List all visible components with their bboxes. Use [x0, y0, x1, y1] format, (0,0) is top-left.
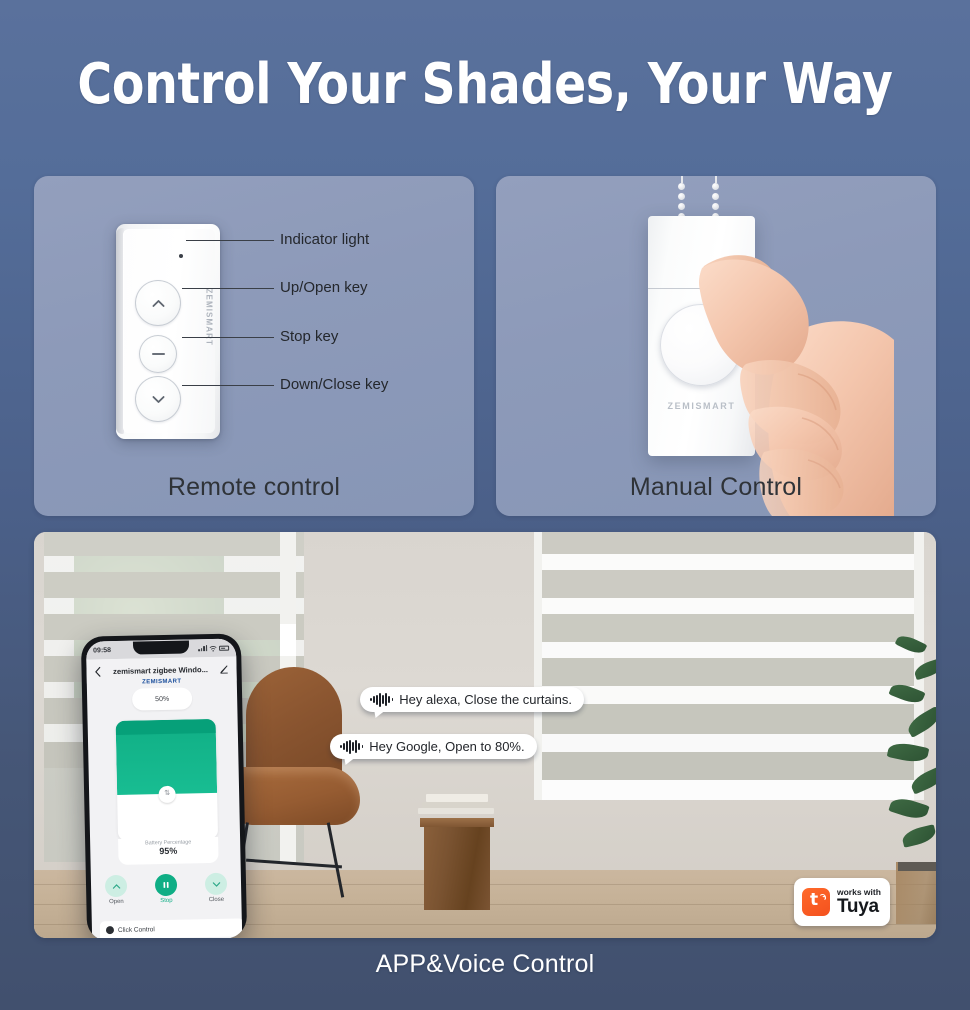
battery-icon	[219, 645, 229, 650]
callout-label-stop: Stop key	[280, 328, 338, 345]
chevron-down-icon	[150, 391, 167, 408]
card-manual-control: ZEMISMART M	[496, 176, 936, 516]
page-title: Control Your Shades, Your Way	[29, 52, 941, 117]
callout-line-stop	[182, 337, 274, 338]
callout-line-indicator	[186, 240, 274, 241]
app-open-label: Open	[105, 899, 127, 905]
app-close-label: Close	[205, 897, 227, 903]
pencil-icon[interactable]	[219, 664, 228, 673]
voice-bubble-google-text: Hey Google, Open to 80%.	[369, 739, 524, 754]
side-table	[424, 824, 490, 910]
card-remote-control: ZEMISMART Indicator light Up/Open key St…	[34, 176, 474, 516]
plant-pot	[896, 862, 936, 924]
photo-panel-caption: APP&Voice Control	[0, 950, 970, 979]
voice-waveform-icon	[340, 740, 363, 754]
app-close-button[interactable]: Close	[205, 873, 228, 903]
book	[422, 802, 490, 808]
battery-card: Battery Percentage 95%	[118, 837, 219, 865]
wifi-icon	[209, 644, 217, 651]
pause-icon	[161, 880, 171, 890]
right-window-blind	[534, 532, 924, 800]
minus-icon	[152, 353, 165, 355]
app-open-button[interactable]: Open	[105, 875, 128, 905]
click-control-label: Click Control	[118, 926, 155, 934]
works-with-tuya-badge: t works with Tuya	[794, 878, 890, 926]
voice-bubble-alexa: Hey alexa, Close the curtains.	[360, 687, 584, 712]
app-title: zemismart zigbee Windo...	[113, 665, 208, 676]
plant-soil	[898, 862, 936, 871]
chevron-up-icon	[150, 295, 167, 312]
position-percent-pill: 50%	[132, 687, 192, 710]
app-controls: Open Stop	[91, 872, 242, 905]
chevron-up-icon	[110, 880, 121, 891]
blind-headrail	[116, 719, 216, 735]
phone-notch	[133, 640, 189, 654]
armchair-seat	[232, 767, 360, 825]
book	[426, 794, 488, 802]
callout-label-down: Down/Close key	[280, 376, 388, 393]
badge-big-text: Tuya	[837, 897, 881, 916]
click-control-row[interactable]: Click Control	[100, 918, 242, 938]
battery-value: 95%	[118, 845, 218, 857]
app-stop-label: Stop	[155, 898, 177, 904]
side-table-top	[420, 818, 494, 827]
chevron-down-icon	[210, 878, 221, 889]
indicator-light-icon	[179, 254, 183, 258]
card-caption-remote: Remote control	[34, 473, 474, 502]
slider-handle[interactable]: ⇅	[158, 786, 175, 803]
app-brand-logo: ZEMISMART	[142, 679, 181, 686]
voice-bubble-alexa-text: Hey alexa, Close the curtains.	[399, 692, 572, 707]
chevron-left-icon[interactable]	[94, 666, 101, 677]
remote-stop-key[interactable]	[139, 335, 177, 373]
book	[418, 808, 494, 814]
callout-label-up: Up/Open key	[280, 279, 368, 296]
remote-down-key[interactable]	[135, 376, 181, 422]
feature-cards: ZEMISMART Indicator light Up/Open key St…	[34, 176, 936, 516]
card-caption-manual: Manual Control	[496, 473, 936, 502]
signal-icon	[198, 645, 207, 652]
remote-up-key[interactable]	[135, 280, 181, 326]
callout-label-indicator: Indicator light	[280, 231, 369, 248]
app-stop-button[interactable]: Stop	[155, 874, 178, 904]
lifestyle-photo-panel: 09:58 zemismart zigbee	[34, 532, 936, 938]
remote-device-image: ZEMISMART	[116, 224, 220, 439]
wifi-waves-icon	[817, 893, 826, 902]
tuya-logo-icon: t	[802, 888, 830, 916]
voice-bubble-google: Hey Google, Open to 80%.	[330, 734, 537, 759]
click-control-icon	[106, 926, 114, 934]
phone-screen: 09:58 zemismart zigbee	[86, 638, 242, 938]
smartphone-mockup: 09:58 zemismart zigbee	[81, 633, 247, 938]
voice-waveform-icon	[370, 693, 393, 707]
callout-line-down	[182, 385, 274, 386]
blind-position-slider[interactable]: ⇅	[116, 719, 218, 841]
callout-line-up	[182, 288, 274, 289]
status-time: 09:58	[93, 647, 111, 654]
